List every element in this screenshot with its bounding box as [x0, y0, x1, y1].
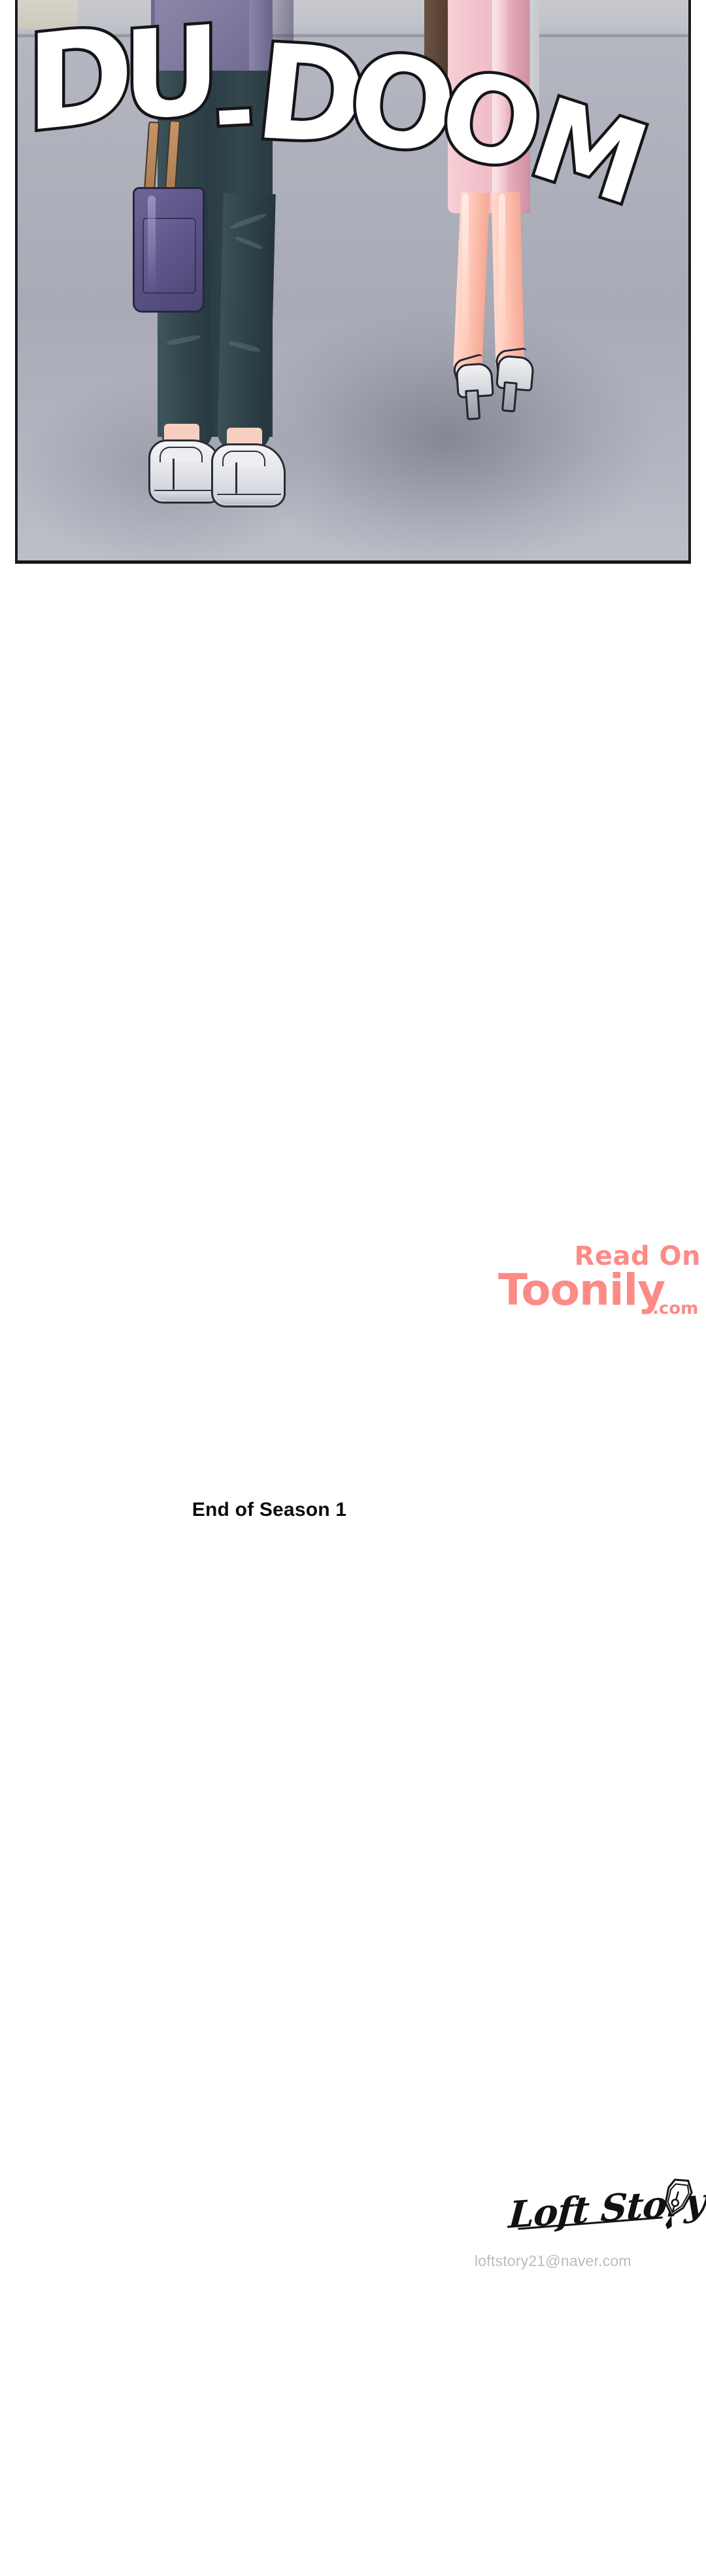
dress-shadow [505, 0, 530, 213]
end-of-season-label: End of Season 1 [0, 1499, 539, 1521]
fountain-pen-nib-icon [651, 2176, 697, 2233]
sneaker-tongue [160, 447, 203, 462]
comic-panel: D U - D O O M [15, 0, 691, 564]
leg-highlight [462, 194, 469, 357]
woman-right-leg [491, 192, 524, 374]
studio-email-text: loftstory21@naver.com [475, 2252, 631, 2270]
heel-spike [465, 389, 480, 420]
loft-story-logo: Loft Story [458, 2171, 699, 2256]
leg-highlight [499, 194, 505, 357]
heel-spike [501, 381, 518, 413]
panel-artwork: D U - D O O M [18, 0, 688, 560]
sneaker-tongue [222, 451, 265, 466]
woman-left-leg [453, 192, 490, 375]
studio-signature: Loft Story loftstory21@naver.com [458, 2171, 706, 2302]
sneaker-seam [235, 462, 237, 494]
bag-highlight [148, 196, 156, 294]
toonily-watermark: Read On Toonily .com [497, 1241, 706, 1326]
man-right-leg [217, 193, 276, 451]
character-man [95, 0, 311, 521]
webtoon-page: D U - D O O M Read On Toonily .com End o… [0, 0, 706, 2576]
watermark-toonily-text: Toonily [498, 1265, 665, 1315]
woman-left-heel-shoe [451, 362, 492, 416]
man-right-sneaker [211, 443, 286, 507]
watermark-com-suffix: .com [652, 1299, 698, 1318]
shoulder-bag [133, 187, 205, 313]
character-woman [410, 0, 580, 475]
sneaker-seam [173, 458, 175, 490]
woman-right-heel-shoe [490, 354, 533, 409]
scene-wall-left-beige [18, 0, 78, 29]
